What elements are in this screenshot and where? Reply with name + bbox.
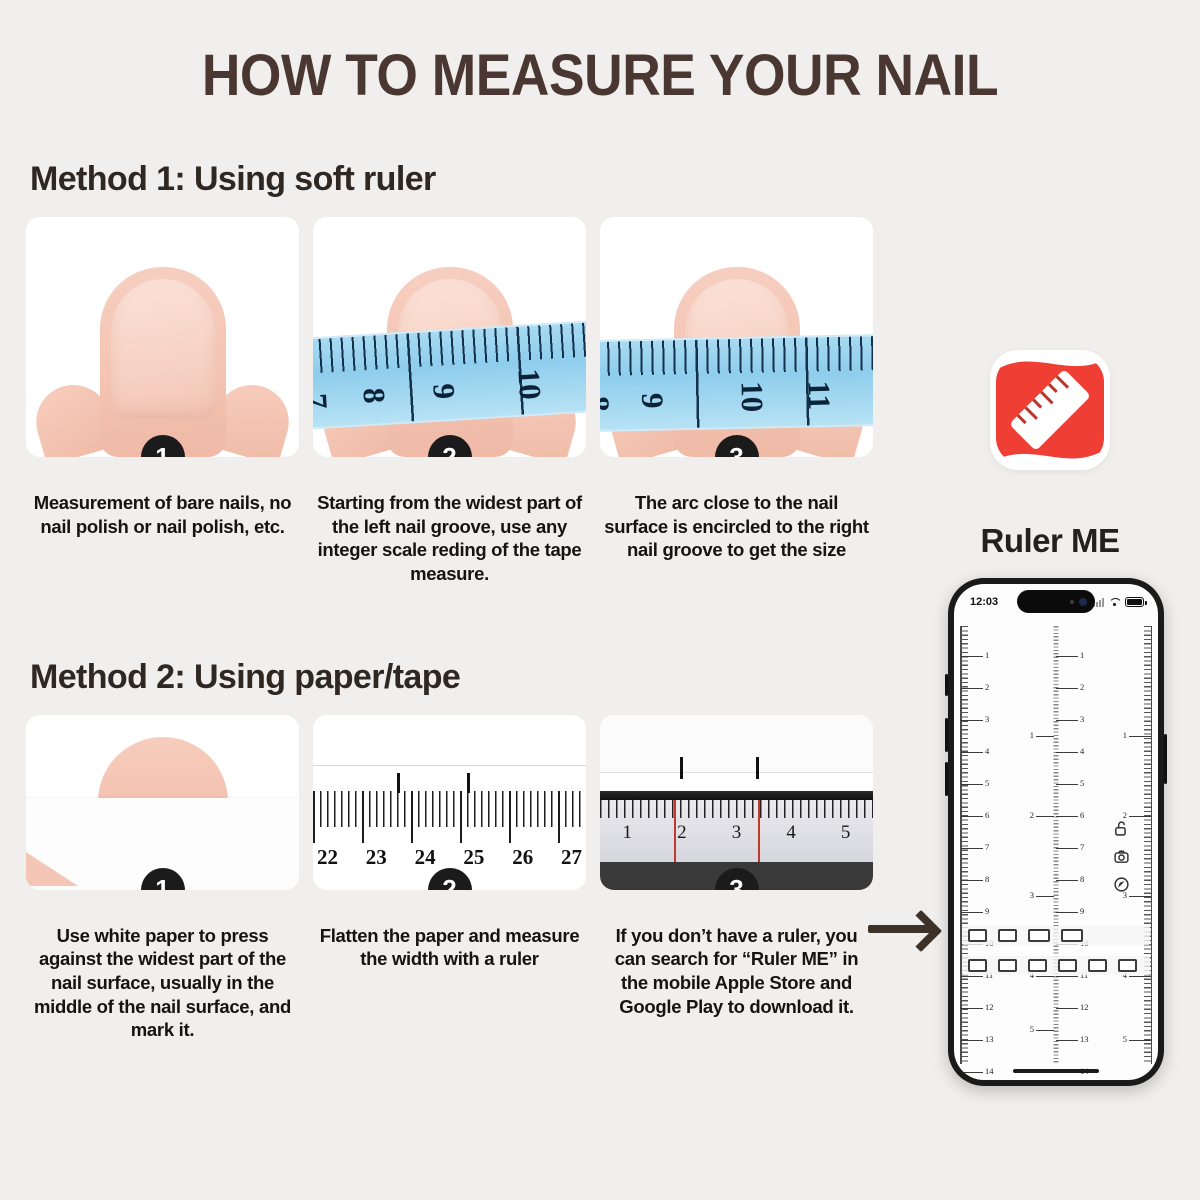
ruler-label: 5 [985,778,989,788]
ruler-major-tick [961,880,983,881]
ruler-label: 5 [1123,1034,1127,1044]
ruler-label: 1 [985,650,989,660]
ruler-app-icon[interactable] [990,350,1110,470]
ruler-label: 14 [985,1066,994,1076]
tape-number: 10 [733,381,770,413]
soft-tape-measure: 7 8 9 10 [313,320,586,430]
nail-chip[interactable] [998,959,1017,972]
camera-icon[interactable] [1113,848,1130,865]
ruler-number: 25 [463,845,484,870]
ruler-number: 2 [677,822,687,844]
ruler-inch-label: 1 [1030,730,1034,740]
ruler-major-tick [1129,736,1151,737]
home-indicator[interactable] [1013,1069,1099,1073]
tape-number: 8 [600,396,616,412]
ruler-scale-left: 1 2 3 4 5 6 7 8 9 10 11 12 13 14 [956,626,1014,1064]
ruler-number: 27 [561,845,582,870]
volume-down-button[interactable] [945,762,948,796]
ruler-major-tick [1129,896,1151,897]
ruler-scale-center: 1 2 3 4 5 6 7 8 9 10 11 12 13 14 1 2 3 4… [1025,626,1087,1064]
ruler-major-tick [961,1040,983,1041]
ruler-major-tick [961,976,983,977]
ruler-number: 5 [841,822,851,844]
ruler-number: 23 [366,845,387,870]
ruler-inch-tick [1036,1030,1054,1031]
ruler-major-tick [1056,1040,1078,1041]
ruler-inch-tick [1036,896,1054,897]
paper-on-phone-ruler-photo: 1 2 3 4 5 3 [600,715,873,890]
chips-row[interactable] [962,926,1150,945]
status-indicators [1093,597,1144,607]
ruler-label: 13 [985,1034,994,1044]
ruler-major-tick [961,848,983,849]
ruler-label: 5 [1080,778,1084,788]
ruler-number: 22 [317,845,338,870]
ruler-major-tick [1129,976,1151,977]
nail-chip[interactable] [1028,929,1050,942]
step-caption: Starting from the widest part of the lef… [313,491,586,586]
nail-chip[interactable] [1088,959,1107,972]
ruler-major-tick [961,784,983,785]
ruler-number: 4 [786,822,796,844]
phone-ruler-scene: 1 2 3 4 5 [600,715,873,890]
ruler-label: 6 [1080,810,1084,820]
screen-ruler-ticks [600,800,873,818]
ruler-inch-tick [1036,816,1054,817]
ruler-label: 8 [1080,874,1084,884]
tape-number: 9 [634,393,670,409]
ruler-number-row: 22 23 24 25 26 27 [313,845,586,870]
ruler-label: 9 [985,906,989,916]
volume-up-button[interactable] [945,718,948,752]
pen-mark-left [680,757,683,779]
tape-number: 10 [510,368,548,401]
dynamic-island [1017,590,1095,613]
unlock-icon[interactable] [1113,820,1130,837]
white-paper-strip [600,715,873,773]
pen-mark-right [756,757,759,779]
ruler-label: 9 [1080,906,1084,916]
ruler-label: 2 [985,682,989,692]
ruler-major-tick [1056,880,1078,881]
ruler-inch-label: 3 [1030,890,1034,900]
ruler-major-tick [1056,656,1078,657]
ruler-label: 2 [1080,682,1084,692]
nail-size-chips-row-2[interactable] [962,956,1150,975]
nail-shape [111,279,215,419]
ruler-major-tick [1056,976,1078,977]
ruler-major-tick [961,752,983,753]
nail-chip[interactable] [998,929,1017,942]
method-1-step-1[interactable]: 1 Measurement of bare nails, no nail pol… [26,217,299,586]
page-title: HOW TO MEASURE YOUR NAIL [48,0,1152,109]
method-1-step-3[interactable]: 8 9 10 11 3 The arc close to the nail su… [600,217,873,586]
phone-bezel [600,791,873,800]
finger-corner-shape [26,852,78,886]
method-2-cards: 1 Use white paper to press against the w… [26,715,900,1042]
ruler-inch-label: 5 [1030,1024,1034,1034]
tape-number: 7 [313,392,335,410]
ruler-minor-ticks [961,626,968,1064]
ruler-major-ticks [313,791,586,843]
compass-icon[interactable] [1113,876,1130,893]
ruler-label: 7 [985,842,989,852]
power-button[interactable] [1164,734,1167,784]
step-caption: Measurement of bare nails, no nail polis… [26,491,299,538]
ruler-label: 1 [1123,730,1127,740]
ruler-major-tick [961,1008,983,1009]
ruler-number: 24 [415,845,436,870]
method-2-step-3[interactable]: 1 2 3 4 5 3 If you don’t have a [600,715,873,1042]
nail-size-chips-row-1[interactable] [962,926,1150,945]
ruler-label: 3 [1080,714,1084,724]
ruler-major-tick [1056,816,1078,817]
step-caption: If you don’t have a ruler, you can searc… [600,924,873,1019]
phone-mockup[interactable]: 12:03 1 2 3 4 5 6 7 8 9 [948,578,1164,1086]
ruler-major-tick [1129,1040,1151,1041]
ruler-label: 3 [985,714,989,724]
nail-chip[interactable] [968,929,987,942]
ruler-major-tick [961,688,983,689]
nail-pressed-on-white-paper-photo: 1 [26,715,299,890]
ruler-label: 7 [1080,842,1084,852]
ruler-label: 2 [1123,810,1127,820]
ruler-label: 13 [1080,1034,1089,1044]
wifi-icon [1108,597,1121,607]
sensor-dot [1070,600,1074,604]
battery-icon [1125,597,1144,607]
ruler-number: 1 [623,822,633,844]
right-arrow-icon [868,925,932,933]
ruler-label: 4 [1080,746,1084,756]
nail-chip[interactable] [1058,959,1077,972]
status-time: 12:03 [970,596,998,608]
ruler-major-tick [961,912,983,913]
ruler-major-tick [1129,816,1151,817]
front-camera-icon [1079,598,1087,606]
method-1-section: Method 1: Using soft ruler 1 Measurement… [0,160,900,586]
ruler-number: 3 [732,822,742,844]
ruler-major-tick [1056,688,1078,689]
phone-tool-palette[interactable] [1113,820,1130,893]
method-2-section: Method 2: Using paper/tape 1 Use white p… [0,658,900,1042]
ruler-inch-tick [1036,976,1054,977]
chips-row[interactable] [962,956,1150,975]
ruler-number: 26 [512,845,533,870]
ruler-major-tick [1056,720,1078,721]
finger-shape [100,267,226,457]
silent-switch[interactable] [945,674,948,696]
ruler-label: 6 [985,810,989,820]
screen-ruler-numbers: 1 2 3 4 5 [600,822,873,844]
ruler-major-tick [961,1072,983,1073]
ruler-major-tick [1056,848,1078,849]
ruler-label: 4 [985,746,989,756]
nail-chip[interactable] [968,959,987,972]
bare-thumb-nail-photo: 1 [26,217,299,457]
nail-chip[interactable] [1061,929,1083,942]
paper-edge-line [313,765,586,766]
ruler-major-tick [961,656,983,657]
step-caption: The arc close to the nail surface is enc… [600,491,873,562]
method-1-cards: 1 Measurement of bare nails, no nail pol… [26,217,900,586]
ruler-inch-tick [1036,736,1054,737]
ruler-inch-label: 2 [1030,810,1034,820]
ruler-label: 12 [1080,1002,1089,1012]
tape-number: 8 [355,387,392,405]
soft-tape-measure: 8 9 10 11 [600,334,873,432]
tape-number: 11 [801,380,838,410]
ruler-major-tick [1056,752,1078,753]
step-caption: Flatten the paper and measure the width … [313,924,586,971]
ruler-major-tick [961,720,983,721]
pen-mark-left [397,773,400,793]
ruler-dense-ticks [1054,626,1059,1064]
app-name-label: Ruler ME [900,522,1200,560]
ruler-major-tick [1056,784,1078,785]
phone-screen-ruler: 1 2 3 4 5 [600,800,873,862]
method-2-step-2[interactable]: 22 23 24 25 26 27 2 Flatten the paper an… [313,715,586,1042]
paper-on-ruler-photo: 22 23 24 25 26 27 2 [313,715,586,890]
ruler-major-tick [961,816,983,817]
method-2-heading: Method 2: Using paper/tape [30,658,900,697]
ruler-label: 8 [985,874,989,884]
thumb-with-soft-tape-photo: 7 8 9 10 2 [313,217,586,457]
method-1-heading: Method 1: Using soft ruler [30,160,900,199]
thumb-tape-encircled-photo: 8 9 10 11 3 [600,217,873,457]
ruler-minor-ticks [1144,626,1151,1064]
ruler-label: 12 [985,1002,994,1012]
phone-screen[interactable]: 12:03 1 2 3 4 5 6 7 8 9 [954,584,1158,1080]
methods-container: Method 1: Using soft ruler 1 Measurement… [0,160,900,1042]
method-2-step-1[interactable]: 1 Use white paper to press against the w… [26,715,299,1042]
ruler-major-tick [1056,912,1078,913]
ruler-major-tick [1056,1008,1078,1009]
nail-chip[interactable] [1118,959,1137,972]
pen-mark-right [467,773,470,793]
method-1-step-2[interactable]: 7 8 9 10 2 Starting from the widest part… [313,217,586,586]
step-caption: Use white paper to press against the wid… [26,924,299,1042]
nail-chip[interactable] [1028,959,1047,972]
ruler-label: 1 [1080,650,1084,660]
tape-number: 9 [425,383,462,401]
